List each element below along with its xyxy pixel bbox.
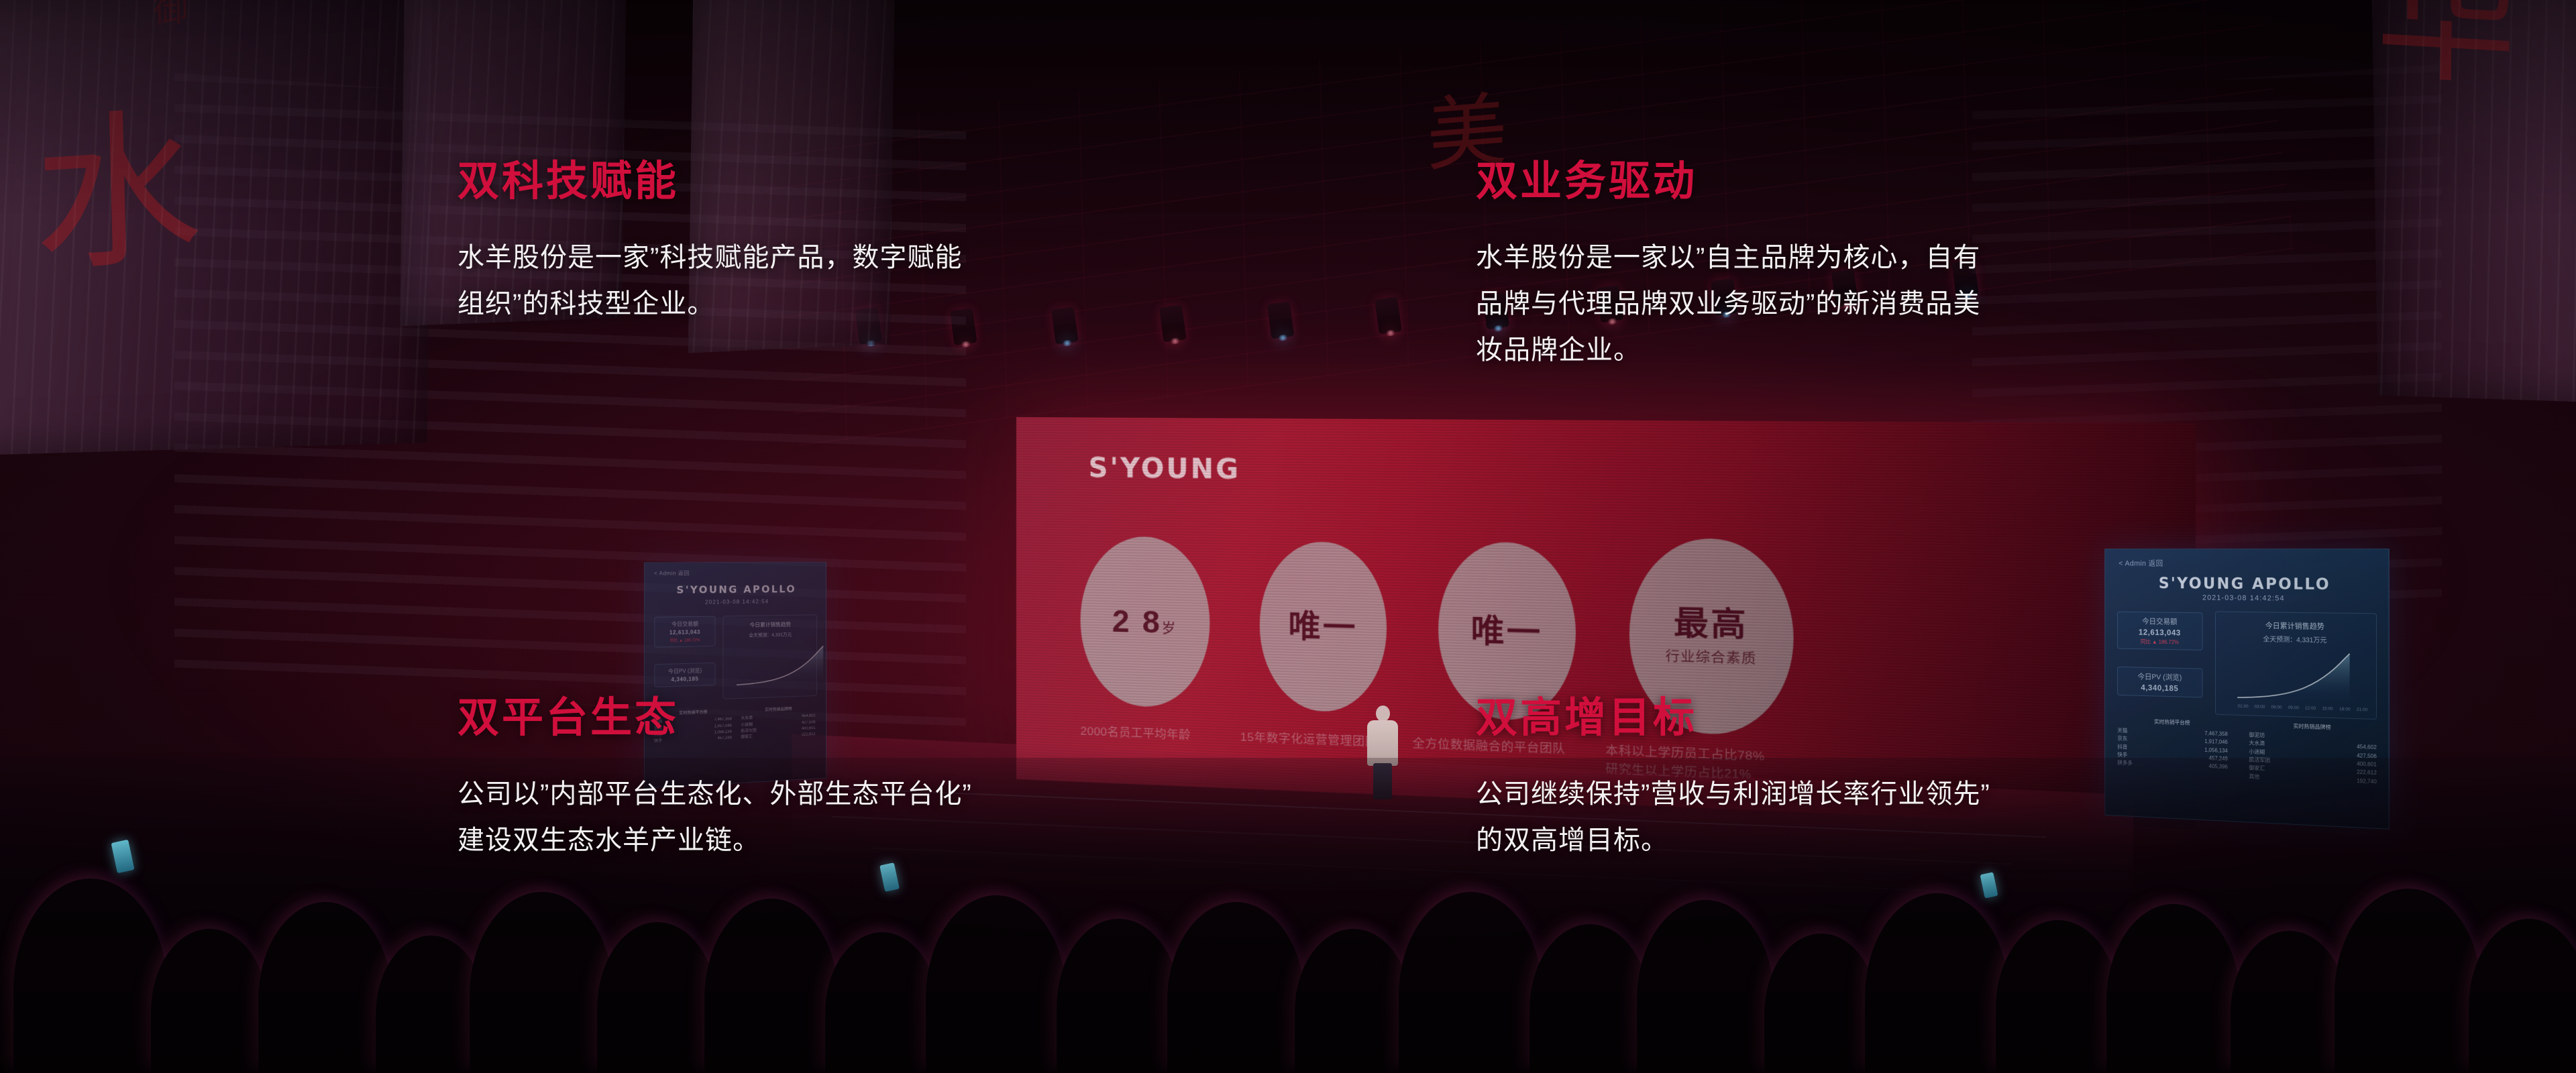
screenshot-root: 御 水 美 华 S'YOUNG 2 8岁 唯一 唯一 (0, 0, 2576, 1073)
block-body-dual-technology: 水羊股份是一家”科技赋能产品，数字赋能 组织”的科技型企业。 (458, 235, 1182, 327)
block-title-dual-technology: 双科技赋能 (458, 161, 1182, 203)
block-body-dual-growth: 公司继续保持”营收与利润增长率行业领先” 的双高增目标。 (1476, 771, 2254, 864)
text-block-top-left: 双科技赋能 水羊股份是一家”科技赋能产品，数字赋能 组织”的科技型企业。 (458, 161, 1182, 327)
text-overlay-grid: 双科技赋能 水羊股份是一家”科技赋能产品，数字赋能 组织”的科技型企业。 双业务… (0, 0, 2576, 1073)
block-title-dual-platform: 双平台生态 (458, 697, 1182, 739)
block-title-dual-business: 双业务驱动 (1476, 161, 2254, 203)
text-block-bottom-left: 双平台生态 公司以”内部平台生态化、外部生态平台化” 建设双生态水羊产业链。 (458, 697, 1182, 864)
block-title-dual-growth: 双高增目标 (1476, 697, 2254, 739)
text-block-top-right: 双业务驱动 水羊股份是一家以”自主品牌为核心，自有 品牌与代理品牌双业务驱动”的… (1476, 161, 2254, 373)
block-body-dual-business: 水羊股份是一家以”自主品牌为核心，自有 品牌与代理品牌双业务驱动”的新消费品美 … (1476, 235, 2254, 373)
block-body-dual-platform: 公司以”内部平台生态化、外部生态平台化” 建设双生态水羊产业链。 (458, 771, 1182, 864)
text-block-bottom-right: 双高增目标 公司继续保持”营收与利润增长率行业领先” 的双高增目标。 (1476, 697, 2254, 864)
